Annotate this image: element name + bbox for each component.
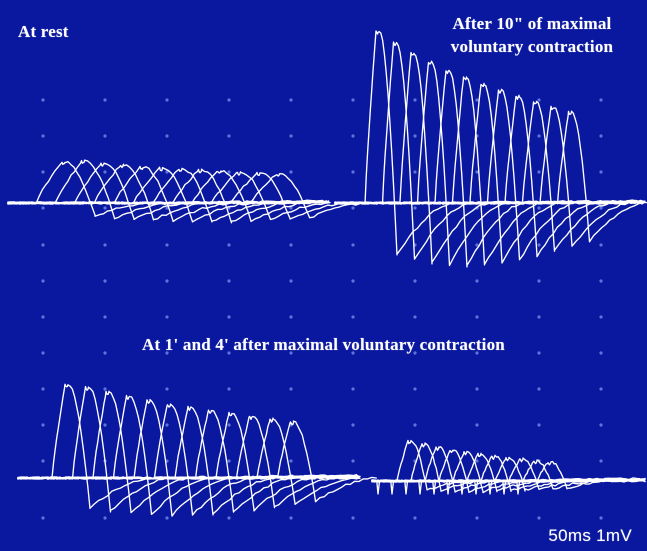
cmap-sweep xyxy=(18,418,357,504)
cmap-sweep xyxy=(18,421,376,502)
cmap-sweep xyxy=(335,42,645,259)
trace-group-at-4-min xyxy=(372,441,645,495)
cmap-sweep xyxy=(335,106,642,246)
label-after-mvc-line1: After 10" of maximal xyxy=(452,14,611,33)
scale-bar-label: 50ms 1mV xyxy=(0,524,632,547)
cmap-sweep xyxy=(335,111,646,242)
cmap-sweep xyxy=(8,174,368,218)
label-at-1-and-4-minutes: At 1' and 4' after maximal voluntary con… xyxy=(0,333,647,356)
trace-group-after-mvc xyxy=(335,31,646,267)
trace-group-at-1-min xyxy=(18,384,376,516)
label-after-maximal-voluntary-contraction: After 10" of maximalvoluntary contractio… xyxy=(437,12,627,58)
cmap-sweep xyxy=(335,61,644,265)
trace-group-at-rest xyxy=(8,160,368,223)
cmap-sweep xyxy=(335,53,642,264)
cmap-sweep xyxy=(8,164,330,220)
cmap-sweep xyxy=(372,447,645,492)
label-after-mvc-line2: voluntary contraction xyxy=(451,37,613,56)
cmap-sweep xyxy=(18,416,357,507)
label-at-rest: At rest xyxy=(18,20,69,43)
cmap-sweep xyxy=(18,400,358,516)
cmap-sweep xyxy=(335,31,643,255)
waveform-layer xyxy=(0,0,647,551)
emg-figure: At rest After 10" of maximalvoluntary co… xyxy=(0,0,647,551)
cmap-sweep xyxy=(335,77,643,265)
cmap-sweep xyxy=(372,462,645,489)
